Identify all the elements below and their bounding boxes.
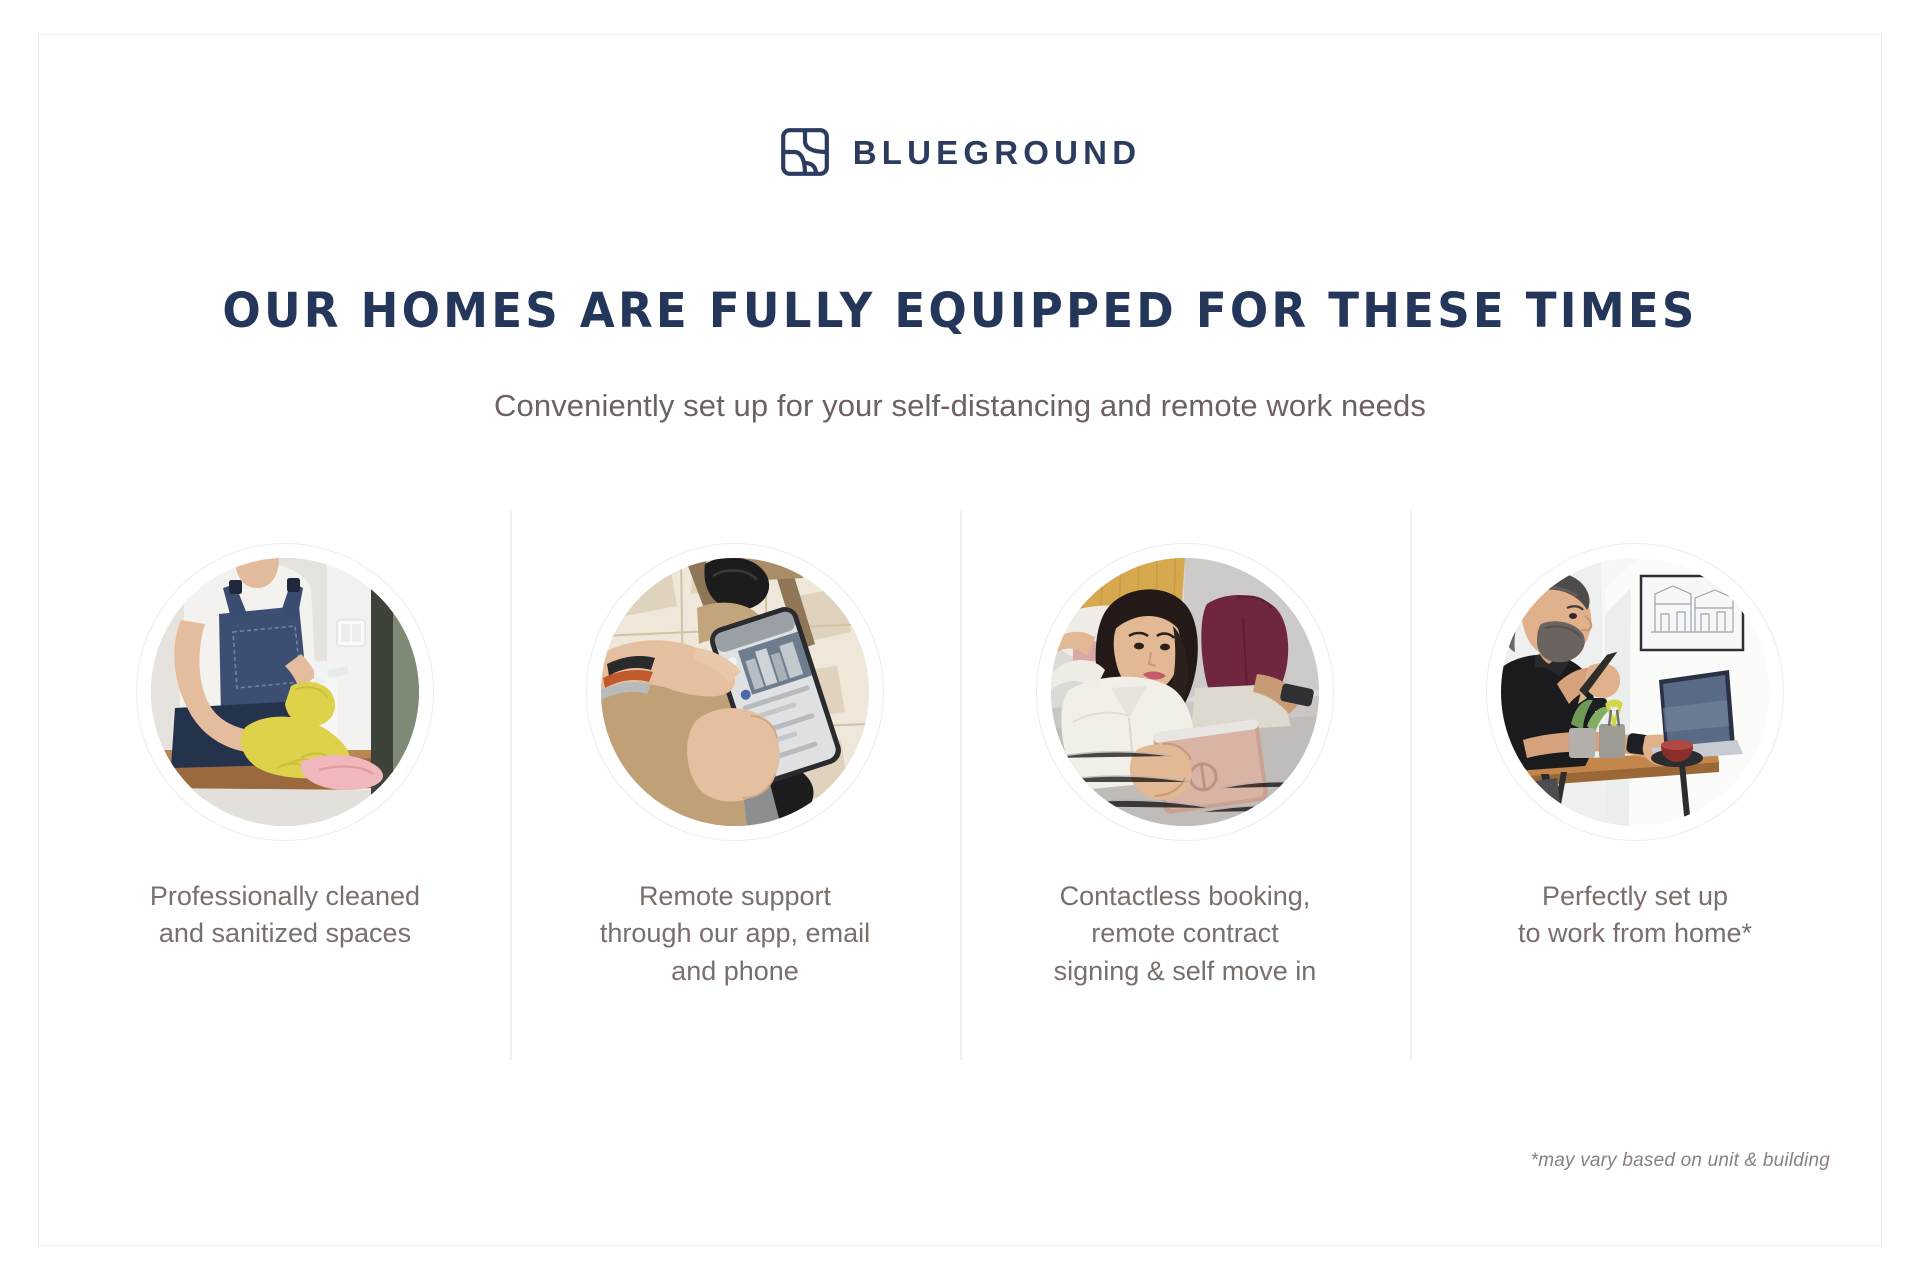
feature-caption: Contactless booking, remote contract sig… (1054, 878, 1317, 990)
caption-line: Contactless booking, (1060, 881, 1311, 911)
blueground-square-mark-icon (779, 126, 831, 178)
photo-phone-support (601, 558, 869, 826)
feature-caption: Remote support through our app, email an… (600, 878, 870, 990)
feature-cleaning: Professionally cleaned and sanitized spa… (60, 510, 510, 1060)
caption-line: signing & self move in (1054, 956, 1317, 986)
page-title: OUR HOMES ARE FULLY EQUIPPED FOR THESE T… (58, 286, 1863, 336)
caption-line: remote contract (1091, 918, 1279, 948)
caption-line: and phone (671, 956, 799, 986)
infographic-page: BLUEGROUND OUR HOMES ARE FULLY EQUIPPED … (0, 0, 1920, 1280)
feature-contactless-booking: Contactless booking, remote contract sig… (960, 510, 1410, 1060)
caption-line: Perfectly set up (1542, 881, 1728, 911)
brand-wordmark: BLUEGROUND (853, 136, 1142, 169)
caption-line: Remote support (639, 881, 831, 911)
photo-ring (586, 543, 884, 841)
brand-lockup: BLUEGROUND (0, 126, 1920, 178)
footnote-disclaimer: *may vary based on unit & building (1531, 1150, 1830, 1172)
feature-remote-support: Remote support through our app, email an… (510, 510, 960, 1060)
feature-caption: Perfectly set up to work from home* (1518, 878, 1752, 953)
photo-cleaning (151, 558, 419, 826)
page-subtitle: Conveniently set up for your self-distan… (0, 387, 1920, 426)
photo-work-from-home (1501, 558, 1769, 826)
feature-columns: Professionally cleaned and sanitized spa… (60, 510, 1860, 1060)
feature-work-from-home: Perfectly set up to work from home* (1410, 510, 1860, 1060)
photo-ring (136, 543, 434, 841)
caption-line: Professionally cleaned (150, 881, 420, 911)
photo-ring (1036, 543, 1334, 841)
caption-line: to work from home* (1518, 918, 1752, 948)
photo-contactless-booking (1051, 558, 1319, 826)
feature-caption: Professionally cleaned and sanitized spa… (150, 878, 420, 953)
caption-line: through our app, email (600, 918, 870, 948)
caption-line: and sanitized spaces (159, 918, 411, 948)
photo-ring (1486, 543, 1784, 841)
